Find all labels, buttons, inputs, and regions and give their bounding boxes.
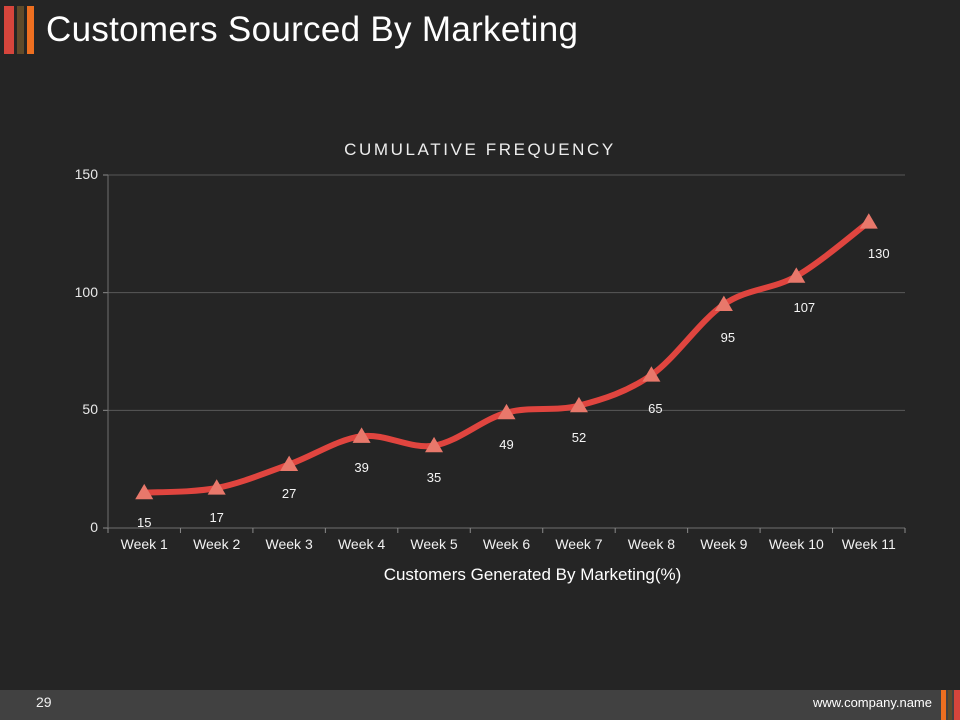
x-axis-tick-label: Week 8 — [628, 536, 675, 552]
x-axis-tick-label: Week 1 — [121, 536, 168, 552]
page-title: Customers Sourced By Marketing — [46, 6, 578, 54]
data-point-label: 52 — [572, 430, 586, 445]
x-axis-tick-label: Week 11 — [842, 536, 896, 552]
data-point-label: 130 — [868, 246, 890, 261]
y-axis-tick-label: 100 — [38, 284, 98, 300]
title-accent-bars — [4, 6, 34, 54]
chart-panel: CUMULATIVE FREQUENCY 050100150 Week 1Wee… — [0, 120, 960, 620]
footer-accent-bar-olive — [948, 690, 952, 720]
company-url[interactable]: www.company.name — [813, 695, 932, 710]
x-axis-tick-label: Week 3 — [266, 536, 313, 552]
slide-footer: 29 www.company.name — [0, 690, 960, 720]
x-axis-tick-label: Week 6 — [483, 536, 530, 552]
accent-bar-orange — [27, 6, 34, 54]
x-axis-tick-label: Week 4 — [338, 536, 385, 552]
footer-accent-bars — [940, 690, 960, 720]
data-point-marker[interactable] — [860, 213, 878, 228]
data-series-line — [144, 222, 869, 493]
data-point-label: 49 — [499, 437, 513, 452]
accent-bar-olive — [17, 6, 24, 54]
data-point-label: 17 — [209, 510, 223, 525]
data-point-label: 95 — [721, 330, 735, 345]
data-point-label: 27 — [282, 486, 296, 501]
slide-header: Customers Sourced By Marketing — [0, 0, 960, 68]
y-axis-tick-label: 150 — [38, 166, 98, 182]
y-axis-tick-label: 0 — [38, 519, 98, 535]
y-axis-tick-label: 50 — [38, 401, 98, 417]
x-axis-tick-label: Week 9 — [700, 536, 747, 552]
plot-area: 050100150 Week 1Week 2Week 3Week 4Week 5… — [0, 120, 960, 620]
x-axis-tick-label: Week 7 — [555, 536, 602, 552]
x-axis-tick-label: Week 2 — [193, 536, 240, 552]
data-point-label: 107 — [793, 300, 815, 315]
data-point-label: 35 — [427, 470, 441, 485]
data-point-label: 15 — [137, 515, 151, 530]
page-number: 29 — [36, 694, 52, 710]
x-axis-tick-label: Week 5 — [410, 536, 457, 552]
footer-accent-bar-orange — [941, 690, 946, 720]
footer-accent-bar-red — [954, 690, 960, 720]
accent-bar-red — [4, 6, 14, 54]
data-point-label: 39 — [354, 460, 368, 475]
x-axis-tick-label: Week 10 — [769, 536, 824, 552]
data-point-label: 65 — [648, 401, 662, 416]
x-axis-title: Customers Generated By Marketing(%) — [0, 565, 960, 585]
